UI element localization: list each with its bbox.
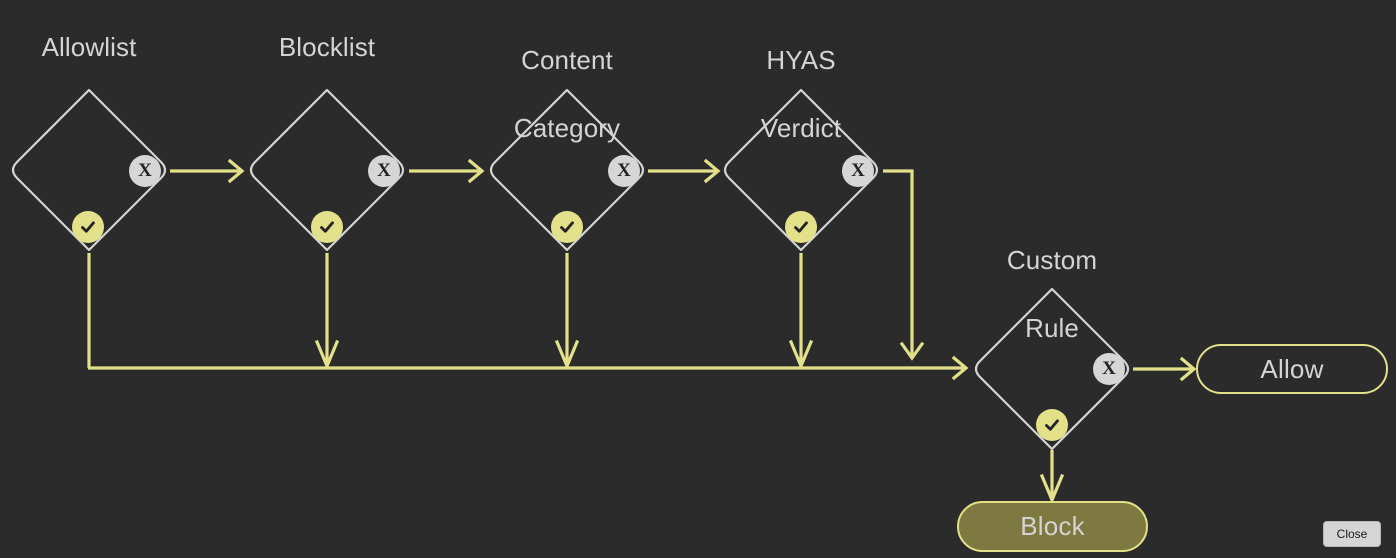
label-custom-rule: Custom Rule (972, 209, 1132, 345)
label-custom-rule-line1: Custom (1007, 245, 1097, 275)
yes-badge-custom-rule[interactable] (1036, 409, 1068, 441)
wire-allow-rail (88, 358, 966, 378)
yes-badge-hyas-verdict[interactable] (785, 211, 817, 243)
check-icon (1042, 415, 1062, 435)
yes-badge-content-category[interactable] (551, 211, 583, 243)
check-icon (78, 217, 98, 237)
no-badge-hyas-verdict[interactable]: X (842, 155, 874, 187)
close-button[interactable]: Close (1323, 521, 1381, 547)
wire-hyas-verdict-check-to-rail (791, 253, 811, 366)
label-content-category: Content Category (487, 9, 647, 145)
connector-wires (0, 0, 1396, 558)
terminal-allow[interactable]: Allow (1196, 344, 1388, 394)
terminal-block[interactable]: Block (957, 501, 1148, 552)
label-hyas-verdict: HYAS Verdict (721, 9, 881, 145)
no-badge-blocklist[interactable]: X (368, 155, 400, 187)
label-hyas-verdict-line1: HYAS (766, 45, 835, 75)
label-content-category-line2: Category (514, 113, 620, 143)
label-hyas-verdict-line2: Verdict (761, 113, 841, 143)
diagram-canvas: Allowlist Blocklist Content Category HYA… (0, 0, 1396, 558)
label-blocklist: Blocklist (247, 30, 407, 64)
yes-badge-allowlist[interactable] (72, 211, 104, 243)
wire-custom-rule-x-to-allow (1133, 359, 1194, 379)
check-icon (557, 217, 577, 237)
label-allowlist: Allowlist (9, 30, 169, 64)
label-content-category-line1: Content (521, 45, 613, 75)
wire-blocklist-to-content-category (409, 161, 482, 181)
check-icon (791, 217, 811, 237)
no-badge-custom-rule[interactable]: X (1093, 353, 1125, 385)
wire-blocklist-check-to-rail (317, 253, 337, 366)
label-custom-rule-line2: Rule (1025, 313, 1079, 343)
no-badge-content-category[interactable]: X (608, 155, 640, 187)
wire-allowlist-to-blocklist (170, 161, 242, 181)
check-icon (317, 217, 337, 237)
no-badge-allowlist[interactable]: X (129, 155, 161, 187)
yes-badge-blocklist[interactable] (311, 211, 343, 243)
wire-custom-rule-check-to-block (1042, 450, 1062, 500)
wire-content-category-check-to-rail (557, 253, 577, 366)
wire-content-category-to-hyas-verdict (648, 161, 718, 181)
wire-hyas-verdict-x-to-rail (883, 171, 922, 358)
